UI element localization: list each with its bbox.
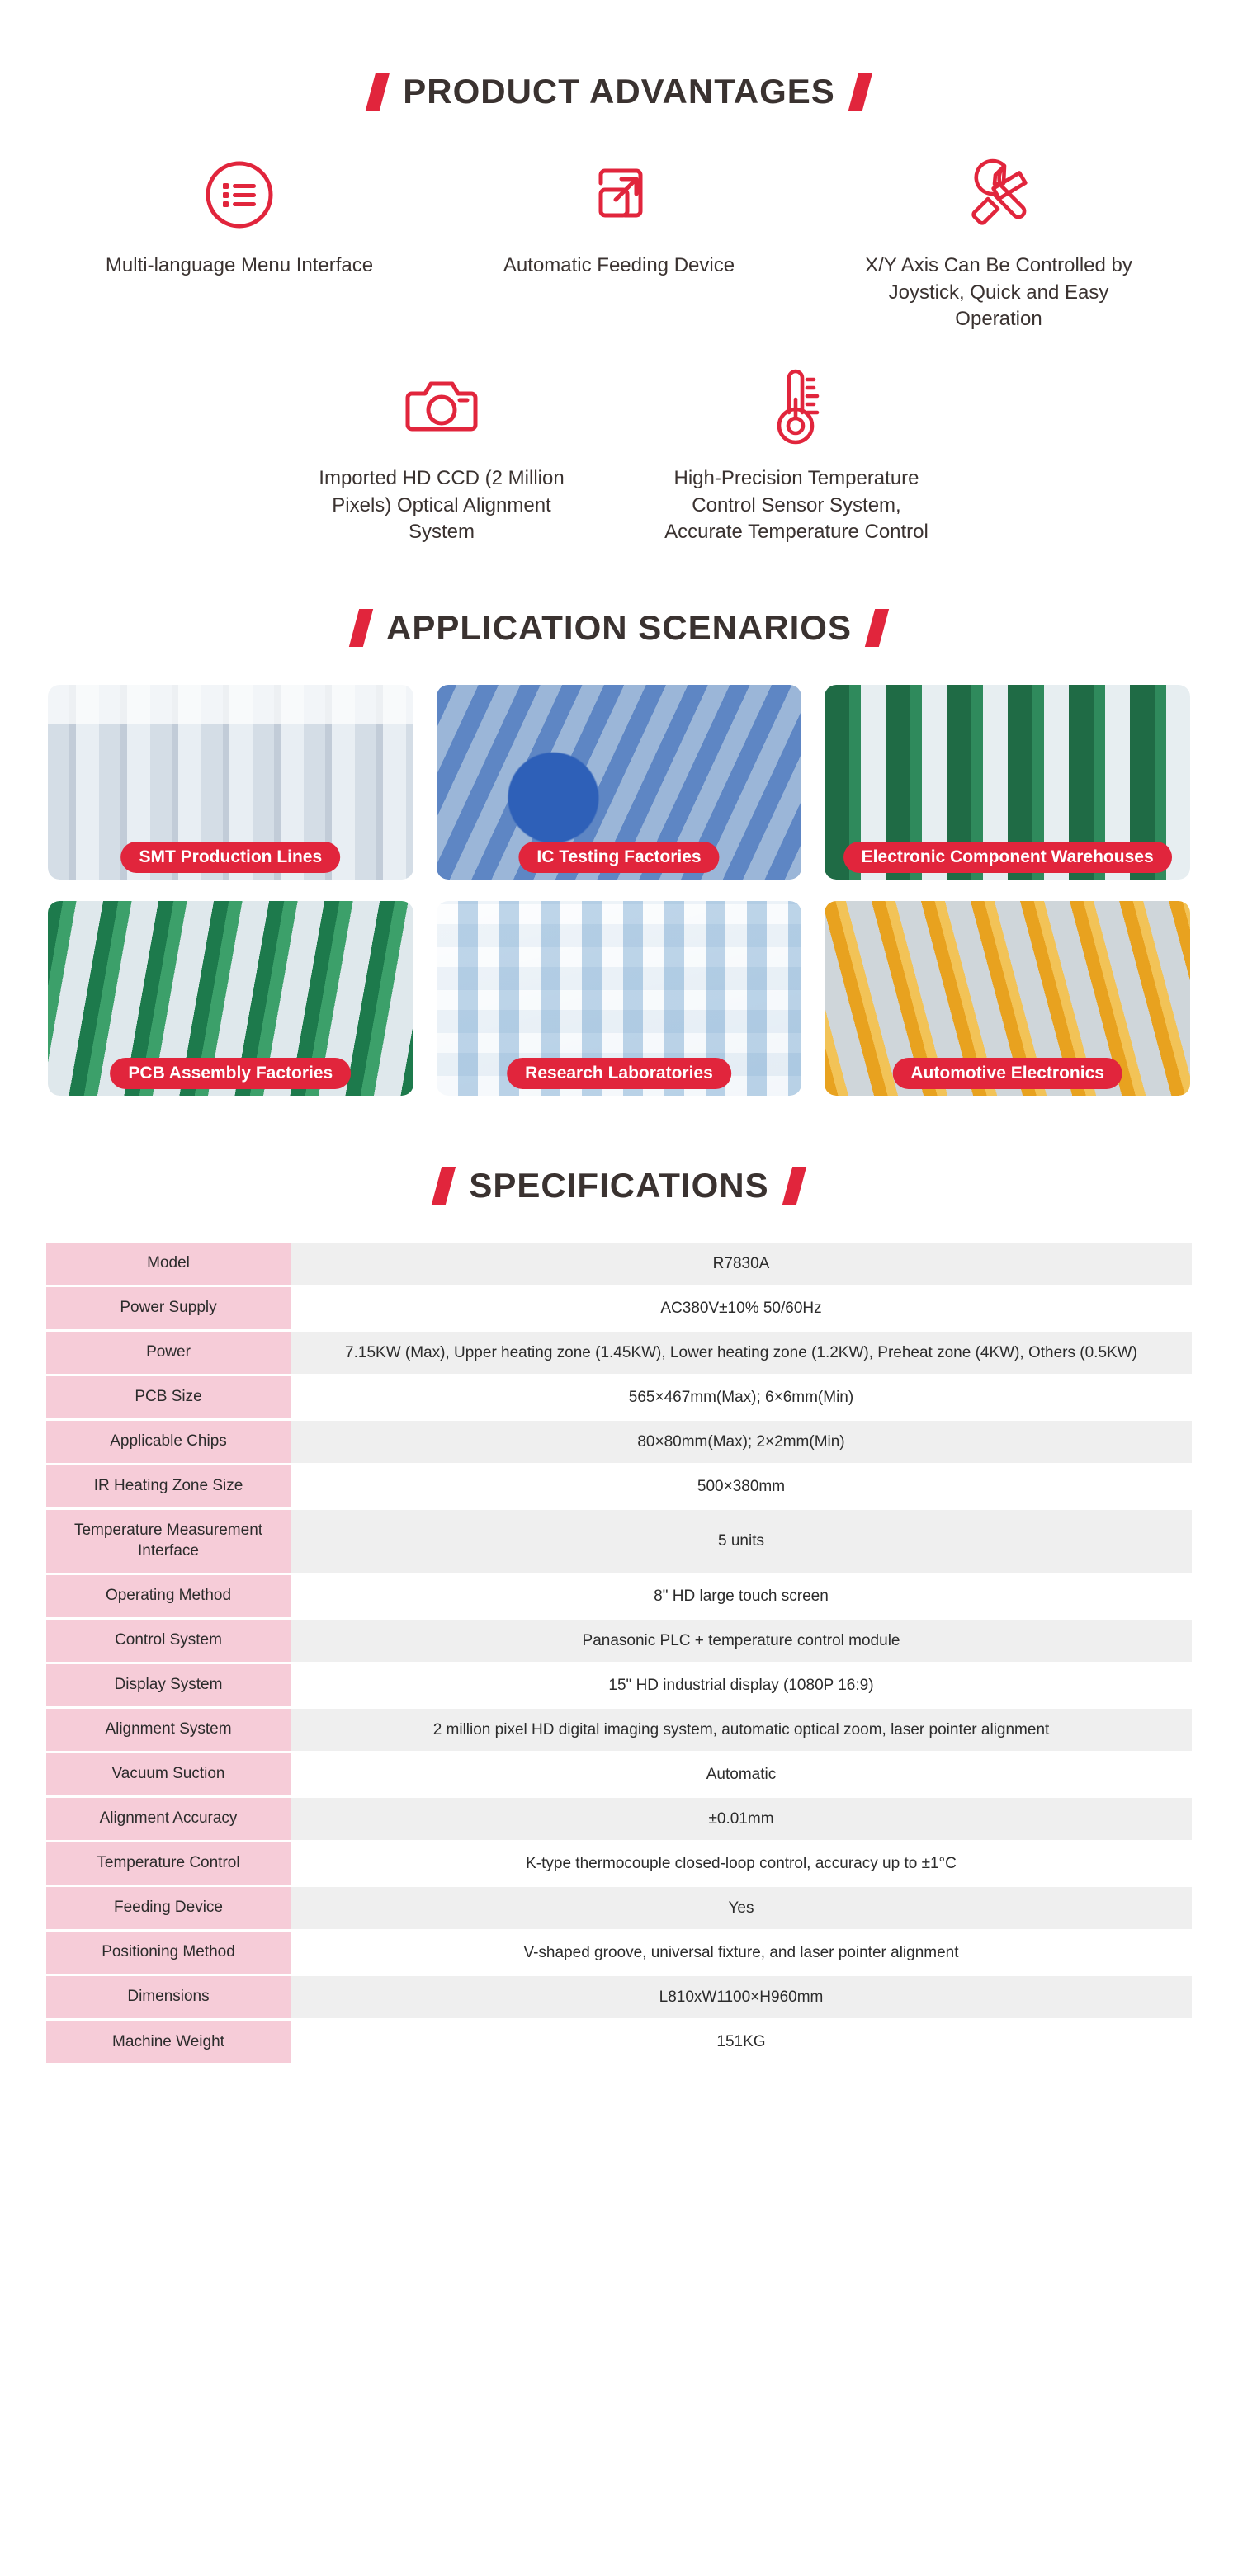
scenario-label: Electronic Component Warehouses [843,842,1172,873]
advantage-label: Automatic Feeding Device [503,252,735,280]
spec-row: Alignment System2 million pixel HD digit… [46,1707,1192,1752]
spec-row: Vacuum SuctionAutomatic [46,1752,1192,1796]
scenario-card-grid: SMT Production Lines IC Testing Factorie… [48,685,1190,1096]
spec-row: Applicable Chips80×80mm(Max); 2×2mm(Min) [46,1420,1192,1465]
spec-row: DimensionsL810xW1100×H960mm [46,1975,1192,2020]
slash-accent-right-icon [865,609,889,647]
spec-key: IR Heating Zone Size [46,1465,291,1509]
spec-key: Dimensions [46,1975,291,2020]
spec-key: PCB Size [46,1375,291,1419]
spec-key: Machine Weight [46,2020,291,2064]
slash-accent-left-icon [432,1167,456,1205]
advantage-label: High-Precision Temperature Control Senso… [660,465,933,546]
scenario-card-pcb-assembly-factories[interactable]: PCB Assembly Factories [48,901,413,1096]
spec-row: Feeding DeviceYes [46,1886,1192,1931]
spec-row: Machine Weight151KG [46,2020,1192,2064]
slash-accent-left-icon [349,609,373,647]
specifications-heading-text: SPECIFICATIONS [469,1168,768,1203]
spec-value: Yes [291,1886,1192,1931]
spec-key: Control System [46,1618,291,1663]
scenarios-heading: APPLICATION SCENARIOS [0,609,1238,647]
spec-value: 2 million pixel HD digital imaging syste… [291,1707,1192,1752]
spec-value: K-type thermocouple closed-loop control,… [291,1842,1192,1886]
advantages-row-2: Imported HD CCD (2 Million Pixels) Optic… [0,361,1238,546]
advantages-heading-text: PRODUCT ADVANTAGES [403,74,835,109]
spec-value: Automatic [291,1752,1192,1796]
spec-value: 565×467mm(Max); 6×6mm(Min) [291,1375,1192,1419]
spec-row: Positioning MethodV-shaped groove, unive… [46,1931,1192,1975]
advantage-item-automatic-feeding: Automatic Feeding Device [429,149,809,333]
spec-value: 80×80mm(Max); 2×2mm(Min) [291,1420,1192,1465]
spec-value: AC380V±10% 50/60Hz [291,1286,1192,1330]
slash-accent-left-icon [366,73,390,111]
product-advantages-section: PRODUCT ADVANTAGES Multi-language M [0,0,1238,546]
spec-key: Alignment System [46,1707,291,1752]
advantage-item-hd-ccd-alignment: Imported HD CCD (2 Million Pixels) Optic… [264,361,619,546]
spec-value: Panasonic PLC + temperature control modu… [291,1618,1192,1663]
slash-accent-right-icon [782,1167,806,1205]
spec-key: Positioning Method [46,1931,291,1975]
spec-value: 5 units [291,1509,1192,1573]
scenario-card-automotive-electronics[interactable]: Automotive Electronics [825,901,1190,1096]
spec-value: 15" HD industrial display (1080P 16:9) [291,1663,1192,1707]
specifications-heading: SPECIFICATIONS [0,1167,1238,1205]
specifications-table-body: ModelR7830APower SupplyAC380V±10% 50/60H… [46,1243,1192,2064]
advantages-heading: PRODUCT ADVANTAGES [0,73,1238,111]
spec-key: Feeding Device [46,1886,291,1931]
spec-row: Alignment Accuracy±0.01mm [46,1796,1192,1841]
spec-value: 7.15KW (Max), Upper heating zone (1.45KW… [291,1330,1192,1375]
spec-row: Operating Method8" HD large touch screen [46,1573,1192,1618]
spec-row: Control SystemPanasonic PLC + temperatur… [46,1618,1192,1663]
scenario-card-ic-testing-factories[interactable]: IC Testing Factories [437,685,802,880]
application-scenarios-section: APPLICATION SCENARIOS SMT Production Lin… [0,546,1238,1096]
advantage-item-xy-axis-joystick: X/Y Axis Can Be Controlled by Joystick, … [809,149,1188,333]
specifications-section: SPECIFICATIONS ModelR7830APower SupplyAC… [0,1096,1238,2066]
spec-row: Power7.15KW (Max), Upper heating zone (1… [46,1330,1192,1375]
scenario-card-smt-production-lines[interactable]: SMT Production Lines [48,685,413,880]
spec-row: Display System15" HD industrial display … [46,1663,1192,1707]
scenario-label: IC Testing Factories [518,842,719,873]
spec-key: Operating Method [46,1573,291,1618]
spec-key: Model [46,1243,291,1286]
spec-key: Temperature Control [46,1842,291,1886]
spec-value: ±0.01mm [291,1796,1192,1841]
scenario-label: Research Laboratories [507,1058,731,1089]
product-detail-page: PRODUCT ADVANTAGES Multi-language M [0,0,1238,2576]
advantage-label: Multi-language Menu Interface [106,252,373,280]
specifications-table: ModelR7830APower SupplyAC380V±10% 50/60H… [46,1243,1192,2066]
spec-row: Power SupplyAC380V±10% 50/60Hz [46,1286,1192,1330]
spec-row: Temperature Measurement Interface5 units [46,1509,1192,1573]
feeding-arrow-icon [583,149,655,241]
thermometer-icon [764,361,829,454]
scenario-card-electronic-component-warehouses[interactable]: Electronic Component Warehouses [825,685,1190,880]
spec-value: 500×380mm [291,1465,1192,1509]
spec-row: IR Heating Zone Size500×380mm [46,1465,1192,1509]
spec-key: Temperature Measurement Interface [46,1509,291,1573]
spec-value: V-shaped groove, universal fixture, and … [291,1931,1192,1975]
spec-key: Power [46,1330,291,1375]
spec-value: 151KG [291,2020,1192,2064]
spec-key: Display System [46,1663,291,1707]
advantages-row-1: Multi-language Menu Interface Automatic … [0,149,1238,333]
spec-row: ModelR7830A [46,1243,1192,1286]
advantage-label: Imported HD CCD (2 Million Pixels) Optic… [305,465,578,546]
wrench-screwdriver-icon [958,149,1039,241]
advantage-label: X/Y Axis Can Be Controlled by Joystick, … [850,252,1147,333]
spec-value: L810xW1100×H960mm [291,1975,1192,2020]
spec-row: PCB Size565×467mm(Max); 6×6mm(Min) [46,1375,1192,1419]
scenario-label: PCB Assembly Factories [110,1058,351,1089]
spec-key: Power Supply [46,1286,291,1330]
scenario-label: SMT Production Lines [120,842,340,873]
spec-key: Alignment Accuracy [46,1796,291,1841]
spec-row: Temperature ControlK-type thermocouple c… [46,1842,1192,1886]
list-menu-icon [201,149,277,241]
advantage-item-temperature-sensor: High-Precision Temperature Control Senso… [619,361,974,546]
camera-icon [404,361,480,454]
scenarios-heading-text: APPLICATION SCENARIOS [386,611,852,645]
scenario-label: Automotive Electronics [892,1058,1122,1089]
advantage-item-multi-language-menu: Multi-language Menu Interface [50,149,429,333]
scenario-card-research-laboratories[interactable]: Research Laboratories [437,901,802,1096]
slash-accent-right-icon [848,73,872,111]
spec-key: Vacuum Suction [46,1752,291,1796]
spec-value: 8" HD large touch screen [291,1573,1192,1618]
page-bottom-spacer [0,2065,1238,2111]
spec-value: R7830A [291,1243,1192,1286]
spec-key: Applicable Chips [46,1420,291,1465]
